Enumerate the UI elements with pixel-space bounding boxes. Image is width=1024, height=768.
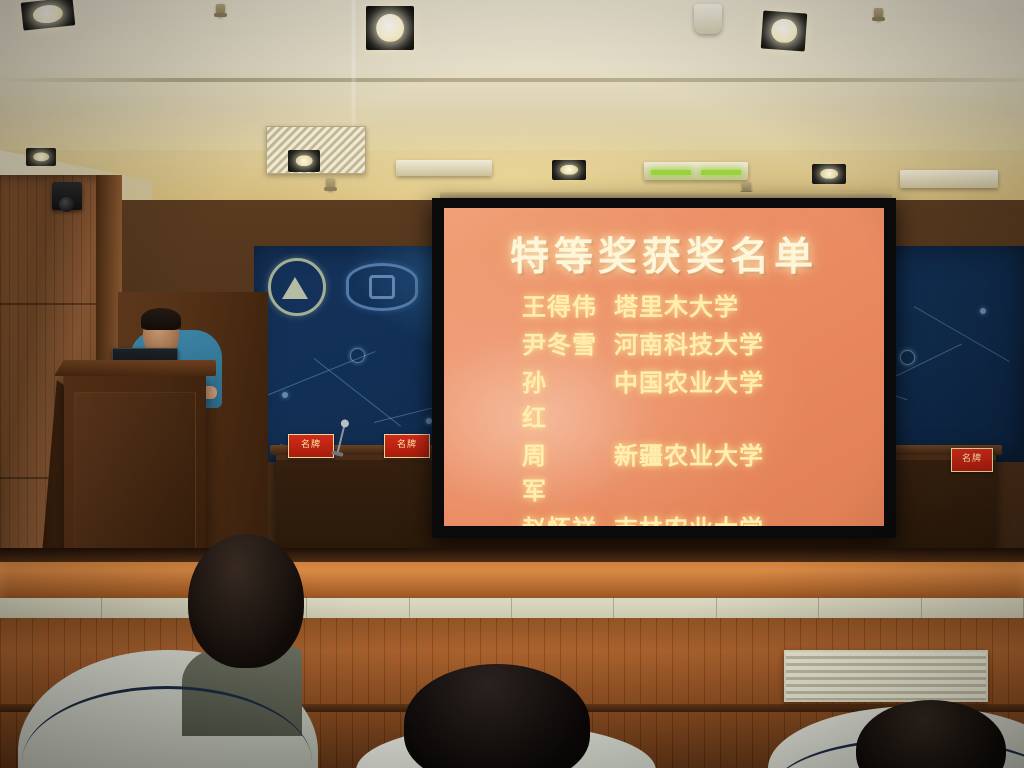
- name-placard-label: 名牌: [952, 449, 992, 469]
- winner-name: 尹冬雪: [522, 328, 614, 363]
- list-item: 周 军 新疆农业大学: [522, 439, 884, 509]
- slide-winner-list: 王得伟 塔里木大学 尹冬雪 河南科技大学 孙 红 中国农业大学 周 军 新疆农业…: [444, 290, 884, 526]
- recessed-spotlight: [26, 148, 56, 166]
- recessed-spotlight: [552, 160, 586, 180]
- stage-shadow-band: [0, 548, 1024, 562]
- ceiling-light-fixture: [900, 170, 998, 188]
- banner-network-node: [282, 392, 288, 398]
- spotlight-lens: [560, 165, 578, 175]
- winner-organization: 中国农业大学: [614, 366, 764, 401]
- list-item: 孙 红 中国农业大学: [522, 366, 884, 436]
- banner-network-node: [350, 348, 365, 363]
- downlight-bulb: [770, 18, 797, 44]
- recessed-spotlight: [288, 150, 320, 172]
- projection-screen: 特等奖获奖名单 王得伟 塔里木大学 尹冬雪 河南科技大学 孙 红 中国农业大学 …: [444, 208, 884, 526]
- winner-name: 赵怀祥: [522, 512, 614, 526]
- recessed-downlight: [21, 0, 76, 31]
- downlight-bulb: [376, 14, 404, 42]
- sprinkler-head: [874, 8, 883, 21]
- recessed-spotlight: [812, 164, 846, 184]
- name-placard: 名牌: [288, 434, 334, 458]
- winner-organization: 塔里木大学: [614, 290, 739, 325]
- slide-title: 特等奖获奖名单: [444, 226, 884, 282]
- ceiling-seam: [0, 78, 1024, 82]
- logo-eye-outline-icon: [346, 263, 418, 311]
- speaker-hair: [141, 308, 181, 330]
- name-placard-label: 名牌: [289, 435, 333, 455]
- recessed-downlight: [761, 11, 808, 52]
- name-placard-label: 名牌: [385, 435, 429, 455]
- ceiling-light-fixture: [396, 160, 492, 176]
- winner-organization: 吉林农业大学: [614, 512, 764, 526]
- winner-name: 王得伟: [522, 290, 614, 325]
- banner-network-node: [900, 350, 915, 365]
- podium-front-panel: [74, 392, 196, 566]
- spotlight-lens: [33, 152, 49, 161]
- projection-screen-frame: 特等奖获奖名单 王得伟 塔里木大学 尹冬雪 河南科技大学 孙 红 中国农业大学 …: [432, 198, 896, 538]
- banner-network-node: [980, 308, 986, 314]
- banner-network-line: [314, 358, 401, 427]
- security-camera-icon: [52, 182, 82, 210]
- sprinkler-head: [216, 4, 225, 17]
- name-placard: 名牌: [951, 448, 993, 472]
- list-item: 赵怀祥 吉林农业大学: [522, 512, 884, 526]
- ceiling-light-fixture-green: [644, 162, 748, 180]
- recessed-downlight: [366, 6, 414, 50]
- name-placard: 名牌: [384, 434, 430, 458]
- sprinkler-head: [326, 178, 335, 191]
- list-item: 王得伟 塔里木大学: [522, 290, 884, 325]
- downlight-bulb: [32, 4, 64, 25]
- winner-organization: 新疆农业大学: [614, 439, 764, 474]
- spotlight-lens: [296, 155, 313, 166]
- spotlight-lens: [820, 169, 838, 179]
- winner-organization: 河南科技大学: [614, 328, 764, 363]
- banner-network-line: [914, 306, 1010, 362]
- winner-name: 孙 红: [522, 366, 614, 436]
- winner-name: 周 军: [522, 439, 614, 509]
- air-return-grille: [784, 650, 988, 702]
- podium-top: [54, 360, 216, 376]
- audience-head: [188, 534, 304, 668]
- list-item: 尹冬雪 河南科技大学: [522, 328, 884, 363]
- logo-triangle-circle-icon: [268, 258, 326, 316]
- conference-hall-photo: 全 “大数据赋 研讨会 办单 名牌 名牌 名牌 特等奖获奖名单: [0, 0, 1024, 768]
- smoke-detector: [694, 4, 722, 34]
